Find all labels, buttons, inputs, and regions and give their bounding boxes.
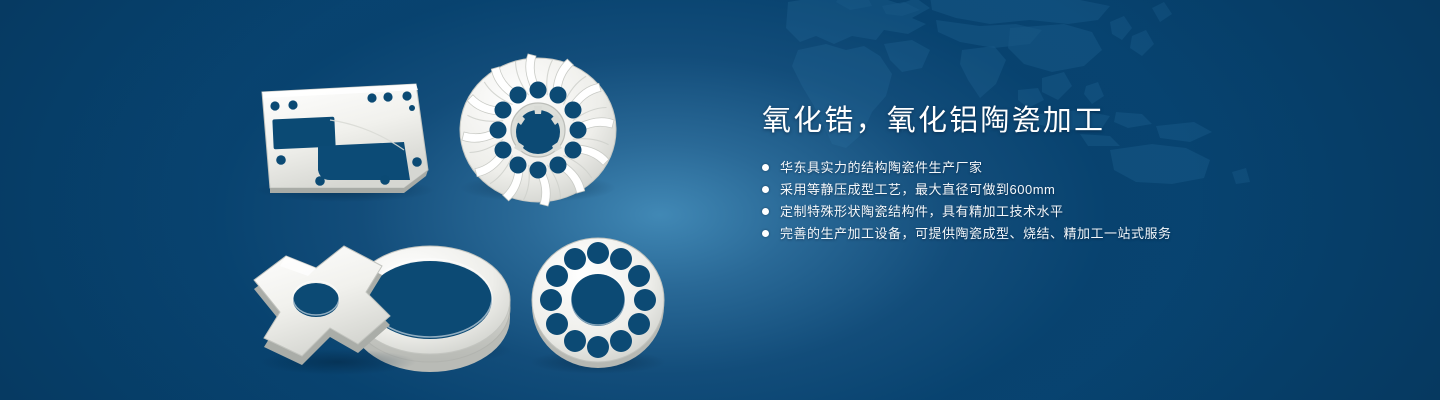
- bullet-dot-icon: [762, 230, 769, 237]
- banner-bullet-list: 华东具实力的结构陶瓷件生产厂家 采用等静压成型工艺，最大直径可做到600mm 定…: [762, 160, 1402, 241]
- banner-bullet-item: 采用等静压成型工艺，最大直径可做到600mm: [762, 182, 1402, 197]
- banner-bullet-item: 完善的生产加工设备，可提供陶瓷成型、烧结、精加工一站式服务: [762, 226, 1402, 241]
- ceramic-perforated-disc: [530, 238, 666, 374]
- bullet-text: 完善的生产加工设备，可提供陶瓷成型、烧结、精加工一站式服务: [780, 227, 1172, 240]
- bullet-text: 采用等静压成型工艺，最大直径可做到600mm: [780, 183, 1055, 196]
- banner-title: 氧化锆，氧化铝陶瓷加工: [762, 104, 1402, 138]
- banner-bullet-item: 定制特殊形状陶瓷结构件，具有精加工技术水平: [762, 204, 1402, 219]
- bullet-text: 华东具实力的结构陶瓷件生产厂家: [780, 161, 983, 174]
- hero-banner: 氧化锆，氧化铝陶瓷加工 华东具实力的结构陶瓷件生产厂家 采用等静压成型工艺，最大…: [0, 0, 1440, 400]
- bullet-dot-icon: [762, 164, 769, 171]
- ceramic-impeller: [460, 54, 616, 206]
- bullet-text: 定制特殊形状陶瓷结构件，具有精加工技术水平: [780, 205, 1064, 218]
- banner-copy: 氧化锆，氧化铝陶瓷加工 华东具实力的结构陶瓷件生产厂家 采用等静压成型工艺，最大…: [762, 104, 1402, 248]
- ceramic-machined-plate: [255, 84, 435, 202]
- bullet-dot-icon: [762, 208, 769, 215]
- product-photo-collage: [0, 0, 740, 400]
- bullet-dot-icon: [762, 186, 769, 193]
- banner-bullet-item: 华东具实力的结构陶瓷件生产厂家: [762, 160, 1402, 175]
